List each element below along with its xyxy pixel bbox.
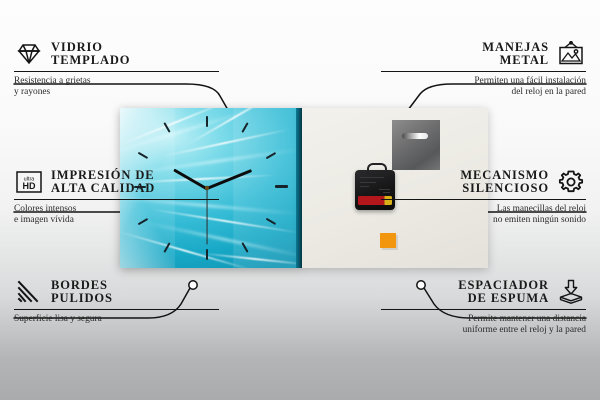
ultra-hd-icon: ultra HD bbox=[14, 168, 44, 196]
svg-text:HD: HD bbox=[23, 181, 36, 191]
infographic-canvas: VIDRIO TEMPLADO Resistencia a grietas y … bbox=[0, 0, 600, 400]
feature-desc-line1: Las manecillas del reloj bbox=[381, 204, 586, 215]
feature-desc-line2: no emiten ningún sonido bbox=[381, 215, 586, 226]
feature-divider bbox=[381, 309, 586, 310]
feature-divider bbox=[14, 71, 219, 72]
feature-bordes-pulidos: BORDES PULIDOS Superficie lisa y segura bbox=[14, 278, 219, 325]
feature-mecanismo-silencioso: MECANISMO SILENCIOSO Las manecillas del … bbox=[381, 168, 586, 227]
feature-desc-line1: Permite mantener una distancia bbox=[381, 314, 586, 325]
diamond-icon bbox=[14, 40, 44, 68]
feature-title-line2: ALTA CALIDAD bbox=[51, 182, 155, 195]
feature-desc-line2: del reloj en la pared bbox=[381, 87, 586, 98]
feature-desc-line1: Colores intensos bbox=[14, 204, 219, 215]
feature-divider bbox=[381, 199, 586, 200]
feature-desc-line1: Permiten una fácil instalación bbox=[381, 76, 586, 87]
foam-spacer-icon bbox=[556, 278, 586, 306]
feature-desc-line1: Superficie lisa y segura bbox=[14, 314, 219, 325]
feature-title-line2: METAL bbox=[482, 54, 549, 67]
polished-edge-icon bbox=[14, 278, 44, 306]
hanging-frame-icon bbox=[556, 40, 586, 68]
feature-desc-line2: y rayones bbox=[14, 87, 219, 98]
gear-icon bbox=[556, 168, 586, 196]
foam-spacer bbox=[380, 233, 396, 248]
feature-impresion-alta-calidad: ultra HD IMPRESIÓN DE ALTA CALIDAD Color… bbox=[14, 168, 219, 227]
feature-desc-line1: Resistencia a grietas bbox=[14, 76, 219, 87]
feature-manejas-metal: MANEJAS METAL Permiten una fácil instala… bbox=[381, 40, 586, 99]
feature-title-line2: DE ESPUMA bbox=[458, 292, 549, 305]
feature-title-line2: SILENCIOSO bbox=[460, 182, 549, 195]
feature-divider bbox=[14, 309, 219, 310]
feature-title-line2: TEMPLADO bbox=[51, 54, 130, 67]
feature-divider bbox=[381, 71, 586, 72]
metal-hanger-plate bbox=[392, 120, 440, 170]
feature-divider bbox=[14, 199, 219, 200]
feature-vidrio-templado: VIDRIO TEMPLADO Resistencia a grietas y … bbox=[14, 40, 219, 99]
feature-espaciador-espuma: ESPACIADOR DE ESPUMA Permite mantener un… bbox=[381, 278, 586, 337]
feature-desc-line2: e imagen vívida bbox=[14, 215, 219, 226]
feature-desc-line2: uniforme entre el reloj y la pared bbox=[381, 325, 586, 336]
feature-title-line2: PULIDOS bbox=[51, 292, 113, 305]
